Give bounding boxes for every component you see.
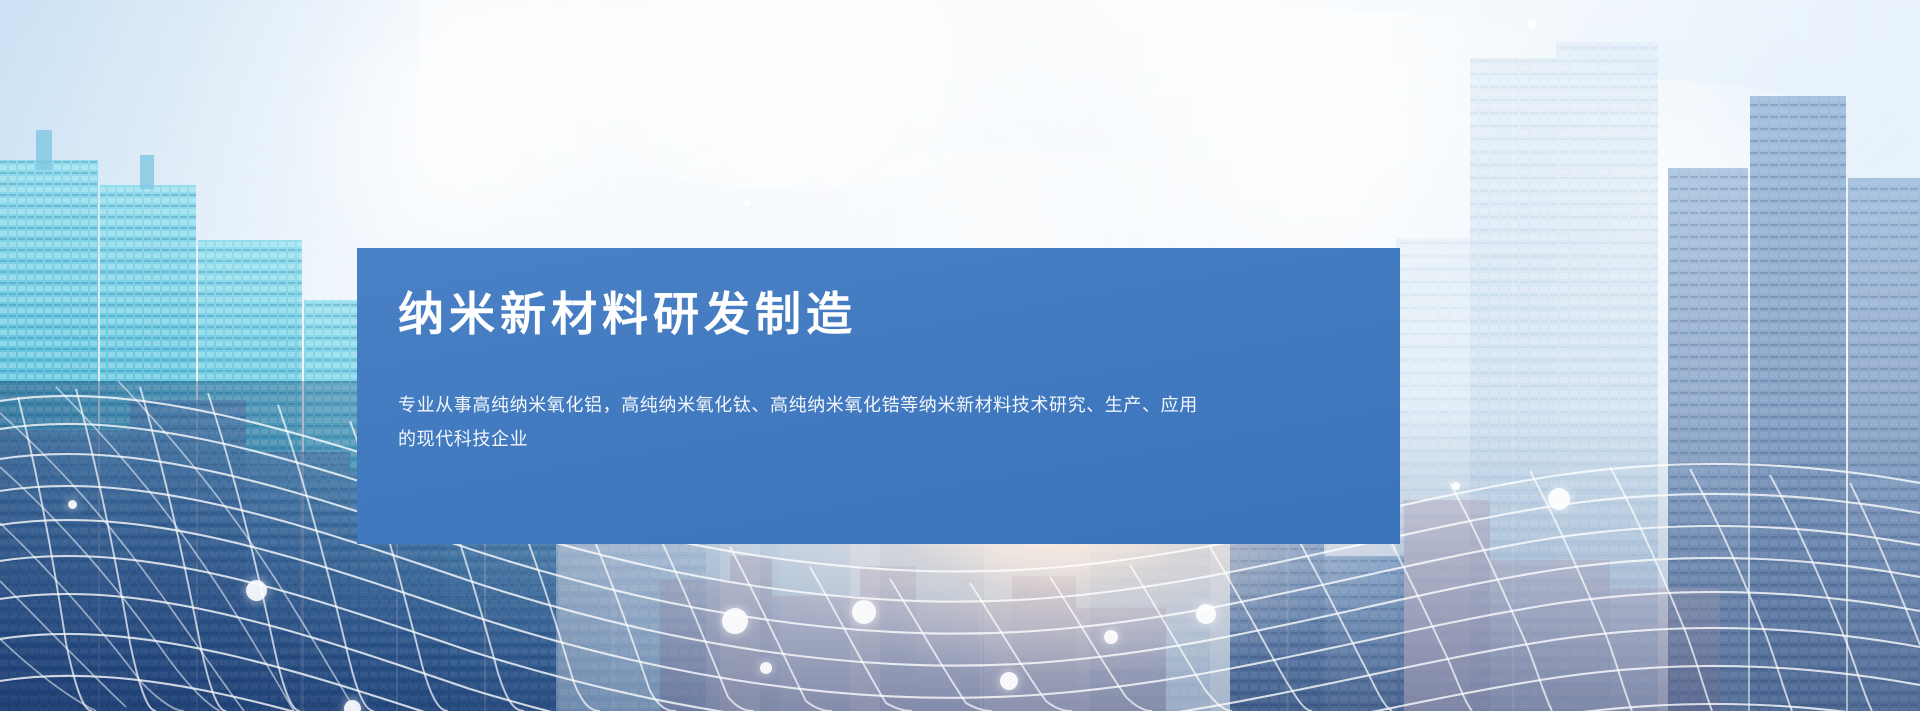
page-title: 纳米新材料研发制造 <box>398 286 1340 344</box>
hero-text-panel: 纳米新材料研发制造 专业从事高纯纳米氧化铝，高纯纳米氧化钛、高纯纳米氧化锆等纳米… <box>357 248 1400 544</box>
hero-banner: 纳米新材料研发制造 专业从事高纯纳米氧化铝，高纯纳米氧化钛、高纯纳米氧化锆等纳米… <box>0 0 1920 711</box>
page-description: 专业从事高纯纳米氧化铝，高纯纳米氧化钛、高纯纳米氧化锆等纳米新材料技术研究、生产… <box>398 388 1198 456</box>
